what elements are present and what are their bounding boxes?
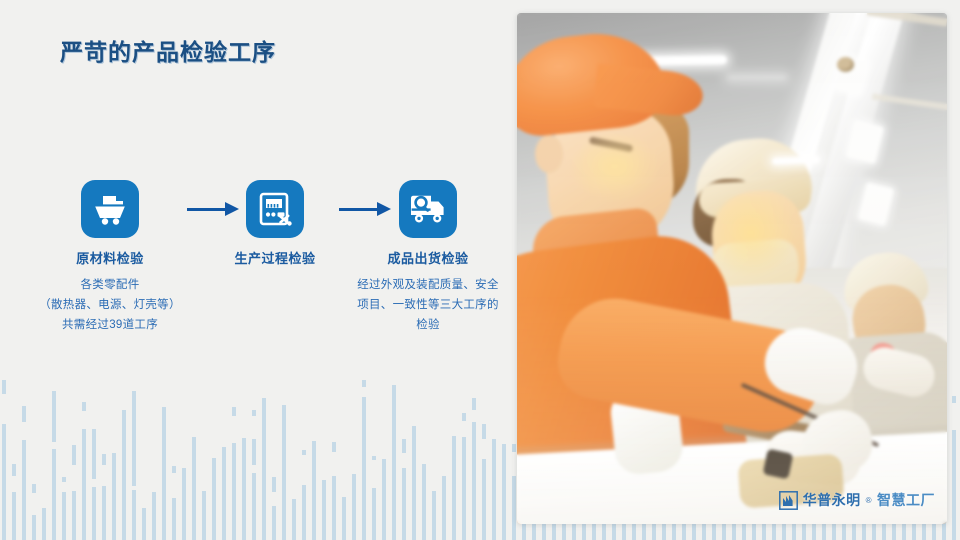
- decorative-bar-tick: [252, 410, 256, 416]
- decorative-bar: [482, 459, 486, 540]
- flow-step-label: 成品出货检验: [333, 248, 523, 267]
- decorative-bar-tick: [472, 398, 476, 410]
- decorative-bar: [82, 429, 86, 540]
- decorative-bar-tick: [362, 380, 366, 387]
- decorative-bar: [232, 443, 236, 540]
- decorative-bar-tick: [82, 402, 86, 411]
- photo-haze: [517, 13, 947, 524]
- decorative-bar: [952, 430, 956, 540]
- decorative-bar: [242, 438, 246, 540]
- flow-step-finished-goods[interactable]: 成品出货检验 经过外观及装配质量、安全 项目、一致性等三大工序的 检验: [333, 180, 523, 335]
- decorative-bar-tick: [22, 406, 26, 422]
- factory-photo: 华普永明®智慧工厂: [517, 13, 947, 524]
- decorative-bar: [282, 405, 286, 540]
- decorative-bar-tick: [102, 454, 106, 465]
- desc-line: 共需经过39道工序: [15, 315, 205, 335]
- decorative-bar-tick: [952, 396, 956, 403]
- decorative-bar: [42, 508, 46, 540]
- decorative-bar: [322, 480, 326, 540]
- decorative-bar-gap: [92, 479, 96, 487]
- decorative-bar: [212, 458, 216, 540]
- decorative-bar: [272, 506, 276, 540]
- decorative-bar: [182, 468, 186, 540]
- decorative-bar: [422, 464, 426, 540]
- decorative-bar: [312, 441, 316, 540]
- decorative-bar: [352, 474, 356, 540]
- decorative-bar-tick: [32, 484, 36, 493]
- decorative-bar: [302, 485, 306, 540]
- decorative-bar-tick: [2, 380, 6, 394]
- decorative-bar: [72, 491, 76, 540]
- decorative-bar: [392, 385, 396, 540]
- decorative-bar: [292, 499, 296, 540]
- decorative-bar: [372, 488, 376, 540]
- decorative-bar: [22, 440, 26, 540]
- decorative-bar: [252, 439, 256, 540]
- decorative-bar-tick: [302, 450, 306, 455]
- decorative-bar: [222, 447, 226, 540]
- decorative-bar-tick: [72, 445, 76, 465]
- decorative-bar: [442, 476, 446, 540]
- decorative-bar-tick: [232, 407, 236, 416]
- decorative-bar: [432, 491, 436, 540]
- brand-watermark: 华普永明®智慧工厂: [779, 490, 935, 510]
- decorative-bar: [62, 492, 66, 540]
- desc-line: 各类零配件: [15, 275, 205, 295]
- decorative-bar-tick: [332, 442, 336, 452]
- decorative-bar: [132, 391, 136, 540]
- decorative-bar: [472, 422, 476, 540]
- mine-cart-icon: [81, 180, 139, 238]
- decorative-bar: [142, 508, 146, 540]
- desc-line: 检验: [333, 315, 523, 335]
- desc-line: （散热器、电源、灯壳等）: [15, 295, 205, 315]
- desc-line: 经过外观及装配质量、安全: [333, 275, 523, 295]
- decorative-bar: [202, 491, 206, 540]
- huapu-yongming-logo-icon: [779, 491, 798, 510]
- watermark-suffix: 智慧工厂: [877, 490, 935, 510]
- decorative-bar: [112, 453, 116, 540]
- decorative-bar-tick: [12, 464, 16, 476]
- decorative-bar-gap: [132, 486, 136, 490]
- decorative-bar: [102, 486, 106, 540]
- inspection-flow-diagram: 原材料检验 各类零配件 （散热器、电源、灯壳等） 共需经过39道工序: [0, 180, 510, 380]
- decorative-bar-tick: [402, 439, 406, 453]
- decorative-bar: [12, 492, 16, 540]
- decorative-bar: [452, 436, 456, 540]
- decorative-bar: [342, 497, 346, 540]
- decorative-bar-tick: [372, 456, 376, 460]
- decorative-bar-gap: [252, 465, 256, 473]
- decorative-bar-tick: [272, 477, 276, 492]
- machine-inspection-icon: [246, 180, 304, 238]
- decorative-bar: [492, 439, 496, 540]
- decorative-bar: [32, 515, 36, 540]
- truck-magnifier-icon: [399, 180, 457, 238]
- decorative-bar: [462, 437, 466, 540]
- flow-step-label: 原材料检验: [15, 248, 205, 267]
- decorative-bar: [262, 398, 266, 540]
- watermark-registered-mark: ®: [866, 496, 872, 505]
- decorative-bar: [152, 492, 156, 540]
- flow-step-description: 各类零配件 （散热器、电源、灯壳等） 共需经过39道工序: [15, 275, 205, 335]
- page-title: 严苛的产品检验工序: [60, 33, 276, 67]
- slide-canvas: 严苛的产品检验工序 原材料检验 各类零配件 （散热器、电源、灯壳等） 共需经过3…: [0, 0, 960, 540]
- decorative-bar: [412, 426, 416, 540]
- decorative-bar: [362, 397, 366, 540]
- decorative-bar-gap: [52, 442, 56, 449]
- watermark-brand: 华普永明: [803, 490, 861, 510]
- decorative-bar: [512, 476, 516, 540]
- decorative-bar-tick: [172, 466, 176, 473]
- decorative-bar-tick: [512, 444, 516, 452]
- decorative-bar: [122, 410, 126, 540]
- desc-line: 项目、一致性等三大工序的: [333, 295, 523, 315]
- decorative-bar: [52, 391, 56, 540]
- flow-step-raw-material[interactable]: 原材料检验 各类零配件 （散热器、电源、灯壳等） 共需经过39道工序: [15, 180, 205, 335]
- flow-step-description: 经过外观及装配质量、安全 项目、一致性等三大工序的 检验: [333, 275, 523, 335]
- decorative-bar: [162, 407, 166, 540]
- decorative-bar: [382, 459, 386, 540]
- decorative-bar: [332, 476, 336, 540]
- decorative-bar-tick: [462, 413, 466, 421]
- decorative-bar: [502, 444, 506, 540]
- decorative-bar-tick: [482, 424, 486, 439]
- decorative-bar: [172, 498, 176, 540]
- decorative-bar-tick: [62, 477, 66, 482]
- decorative-bar: [192, 437, 196, 540]
- decorative-bar: [402, 468, 406, 540]
- decorative-bar: [2, 424, 6, 540]
